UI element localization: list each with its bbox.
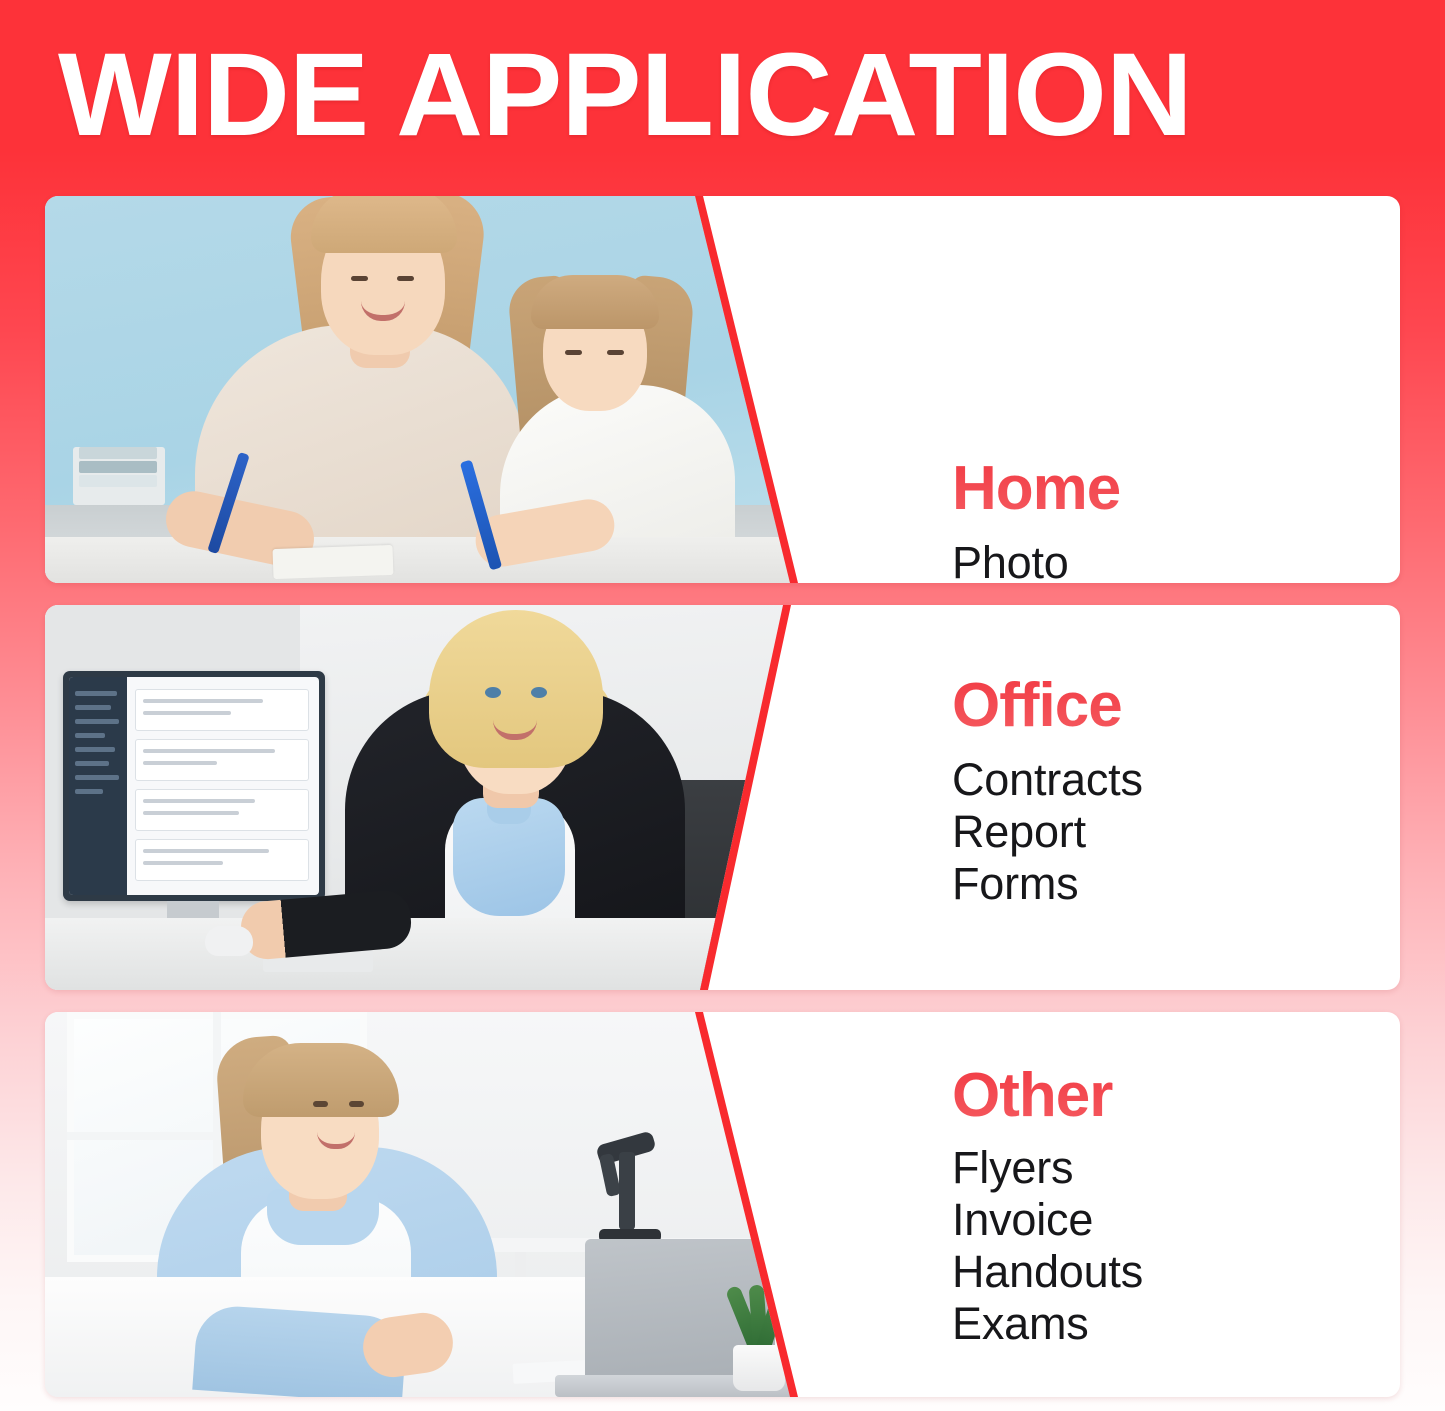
girl-hair-top — [531, 275, 659, 329]
application-card-home[interactable]: Home Photo Documents Photocopy — [45, 196, 1400, 583]
scene-book — [79, 475, 157, 487]
card-photo-home — [45, 196, 845, 583]
photo-scene-home-study — [45, 196, 845, 583]
photo-scene-lab — [45, 1012, 845, 1397]
header-banner: WIDE APPLICATION — [0, 0, 1445, 175]
card-heading-home: Home — [952, 458, 1400, 520]
computer-mouse — [205, 926, 253, 956]
screen-card — [135, 689, 309, 731]
screen-card — [135, 739, 309, 781]
scene-book — [79, 461, 157, 473]
plant-pot — [733, 1345, 785, 1391]
screen-text-row — [143, 761, 217, 765]
list-item: Exams — [952, 1298, 1400, 1350]
notebook — [273, 545, 394, 579]
list-item: Report — [952, 806, 1400, 858]
screen-text-row — [143, 811, 239, 815]
screen-text-row — [143, 799, 255, 803]
girl-eye-right — [607, 350, 624, 355]
test-tube — [813, 1341, 833, 1381]
screen-text-row — [143, 699, 263, 703]
woman-eye-left — [351, 276, 368, 281]
woman-eye-right — [397, 276, 414, 281]
woman-eye-right — [349, 1101, 364, 1107]
card-photo-office — [45, 605, 845, 990]
sidebar-row — [75, 691, 117, 696]
sidebar-row — [75, 747, 115, 752]
screen-text-row — [143, 749, 275, 753]
sidebar-row — [75, 761, 109, 766]
microscope-stand — [619, 1152, 635, 1230]
screen-text-row — [143, 861, 223, 865]
list-item: Contracts — [952, 754, 1400, 806]
sidebar-row — [75, 705, 111, 710]
woman-eye-left — [313, 1101, 328, 1107]
card-heading-other: Other — [952, 1065, 1400, 1127]
card-text-home: Home Photo Documents Photocopy — [840, 196, 1400, 583]
card-text-other: Other Flyers Invoice Handouts Exams — [840, 1012, 1400, 1397]
application-card-office[interactable]: Office Contracts Report Forms — [45, 605, 1400, 990]
scene-desk — [45, 918, 845, 990]
list-item: Handouts — [952, 1246, 1400, 1298]
card-photo-other — [45, 1012, 845, 1397]
woman-eye-left — [485, 687, 501, 698]
sidebar-row — [75, 719, 119, 724]
card-list-office: Contracts Report Forms — [952, 754, 1400, 910]
card-text-office: Office Contracts Report Forms — [840, 605, 1400, 990]
list-item: Flyers — [952, 1142, 1400, 1194]
list-item: Invoice — [952, 1194, 1400, 1246]
sidebar-row — [75, 789, 103, 794]
woman-hair-top — [311, 196, 457, 253]
screen-card — [135, 789, 309, 831]
screen-text-row — [143, 711, 231, 715]
sidebar-row — [75, 775, 119, 780]
screen-text-row — [143, 849, 269, 853]
card-heading-office: Office — [952, 675, 1400, 737]
scene-desk — [45, 537, 845, 583]
scene-book — [79, 447, 157, 459]
application-card-other[interactable]: Other Flyers Invoice Handouts Exams — [45, 1012, 1400, 1397]
woman-eye-right — [531, 687, 547, 698]
screen-card — [135, 839, 309, 881]
microscope-icon — [585, 1132, 671, 1242]
photo-scene-office-desk — [45, 605, 845, 990]
list-item: Photo — [952, 537, 1400, 583]
page-title: WIDE APPLICATION — [58, 36, 1192, 154]
card-list-other: Flyers Invoice Handouts Exams — [952, 1142, 1400, 1350]
monitor-screen — [69, 677, 319, 895]
desktop-monitor — [63, 671, 325, 901]
card-list-home: Photo Documents Photocopy — [952, 537, 1400, 583]
girl-eye-left — [565, 350, 582, 355]
list-item: Forms — [952, 858, 1400, 910]
sidebar-row — [75, 733, 105, 738]
